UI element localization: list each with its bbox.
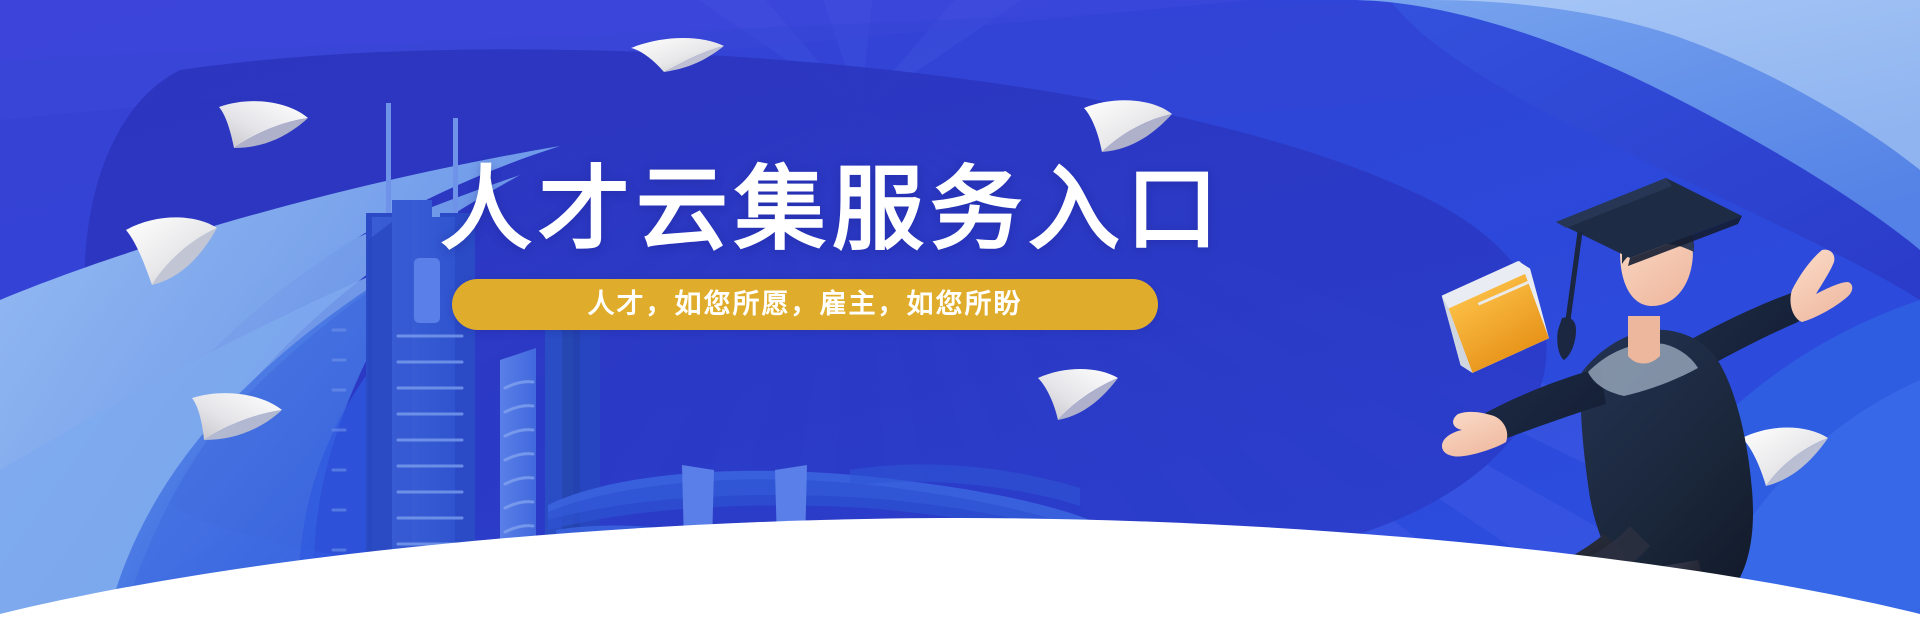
tower-window-panel [414,258,440,323]
tower-antenna-left [386,103,391,213]
banner-illustration [0,0,1920,630]
hero-banner: 人才云集服务入口 人才，如您所愿，雇主，如您所盼 [0,0,1920,630]
graduate-neck [1628,316,1660,364]
tower-antenna-right [453,118,458,213]
